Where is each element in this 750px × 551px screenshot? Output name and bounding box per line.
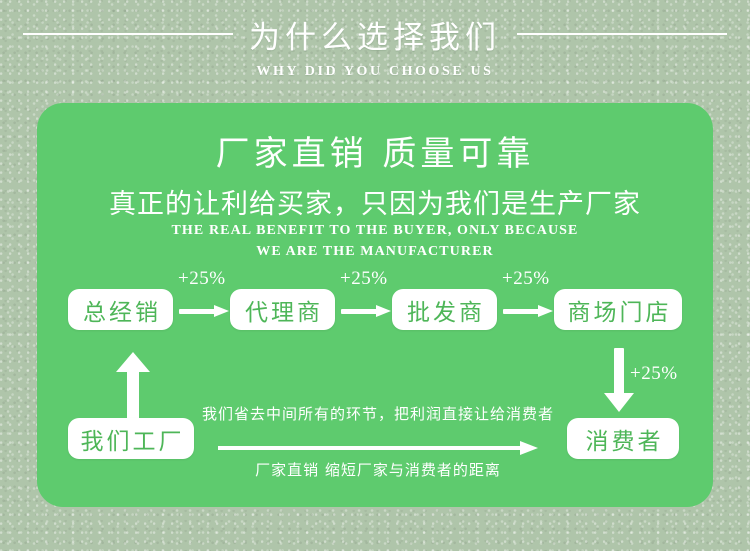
- flow-node-factory: 我们工厂: [68, 418, 194, 459]
- arrow-shaft: [503, 309, 539, 314]
- markup-label-agent-to-wholesaler: +25%: [340, 268, 388, 290]
- note-text-bottom: 厂家直销 缩短厂家与消费者的距离: [183, 459, 573, 480]
- slogan-primary: 厂家直销 质量可靠: [37, 126, 713, 175]
- page-header: 为什么选择我们 WHY DID YOU CHOOSE US: [0, 8, 750, 96]
- slogan-english-line-1: THE REAL BENEFIT TO THE BUYER, ONLY BECA…: [37, 223, 713, 239]
- markup-label-distributor-to-agent: +25%: [178, 268, 226, 290]
- arrow-shaft: [614, 348, 624, 394]
- arrow-up-icon-factory-to-distributor: [116, 352, 150, 420]
- arrow-shaft: [341, 309, 377, 314]
- markup-label-store-to-consumer: +25%: [630, 363, 678, 385]
- arrow-right-icon-agent-to-wholesaler: [341, 305, 391, 317]
- flow-node-agent: 代理商: [230, 289, 335, 330]
- arrow-head: [214, 305, 229, 317]
- note-text-top: 我们省去中间所有的环节，把利润直接让给消费者: [183, 403, 573, 424]
- arrow-down-icon-store-to-consumer: [604, 348, 634, 412]
- arrow-head: [520, 441, 538, 455]
- title-rule-left: [23, 33, 233, 35]
- content-panel: 厂家直销 质量可靠 真正的让利给买家，只因为我们是生产厂家 THE REAL B…: [37, 103, 713, 507]
- arrow-right-icon-distributor-to-agent: [179, 305, 229, 317]
- flow-node-wholesaler: 批发商: [392, 289, 497, 330]
- page-title: 为什么选择我们: [249, 12, 501, 57]
- arrow-shaft: [179, 309, 215, 314]
- slogan-english-line-2: WE ARE THE MANUFACTURER: [37, 244, 713, 260]
- markup-label-wholesaler-to-store: +25%: [502, 268, 550, 290]
- flow-node-distributor: 总经销: [68, 289, 173, 330]
- flow-node-consumer: 消费者: [567, 418, 679, 459]
- arrow-head: [538, 305, 553, 317]
- page-root: 为什么选择我们 WHY DID YOU CHOOSE US 厂家直销 质量可靠 …: [0, 0, 750, 551]
- arrow-head: [604, 393, 634, 412]
- title-row: 为什么选择我们: [0, 8, 750, 60]
- arrow-right-icon-long-note: [218, 441, 538, 455]
- arrow-shaft: [218, 446, 520, 450]
- slogan-secondary: 真正的让利给买家，只因为我们是生产厂家: [37, 182, 713, 221]
- page-subtitle: WHY DID YOU CHOOSE US: [0, 64, 750, 80]
- title-rule-right: [517, 33, 727, 35]
- arrow-right-icon-wholesaler-to-store: [503, 305, 553, 317]
- arrow-shaft: [127, 368, 139, 420]
- flow-node-store: 商场门店: [554, 289, 682, 330]
- arrow-head: [376, 305, 391, 317]
